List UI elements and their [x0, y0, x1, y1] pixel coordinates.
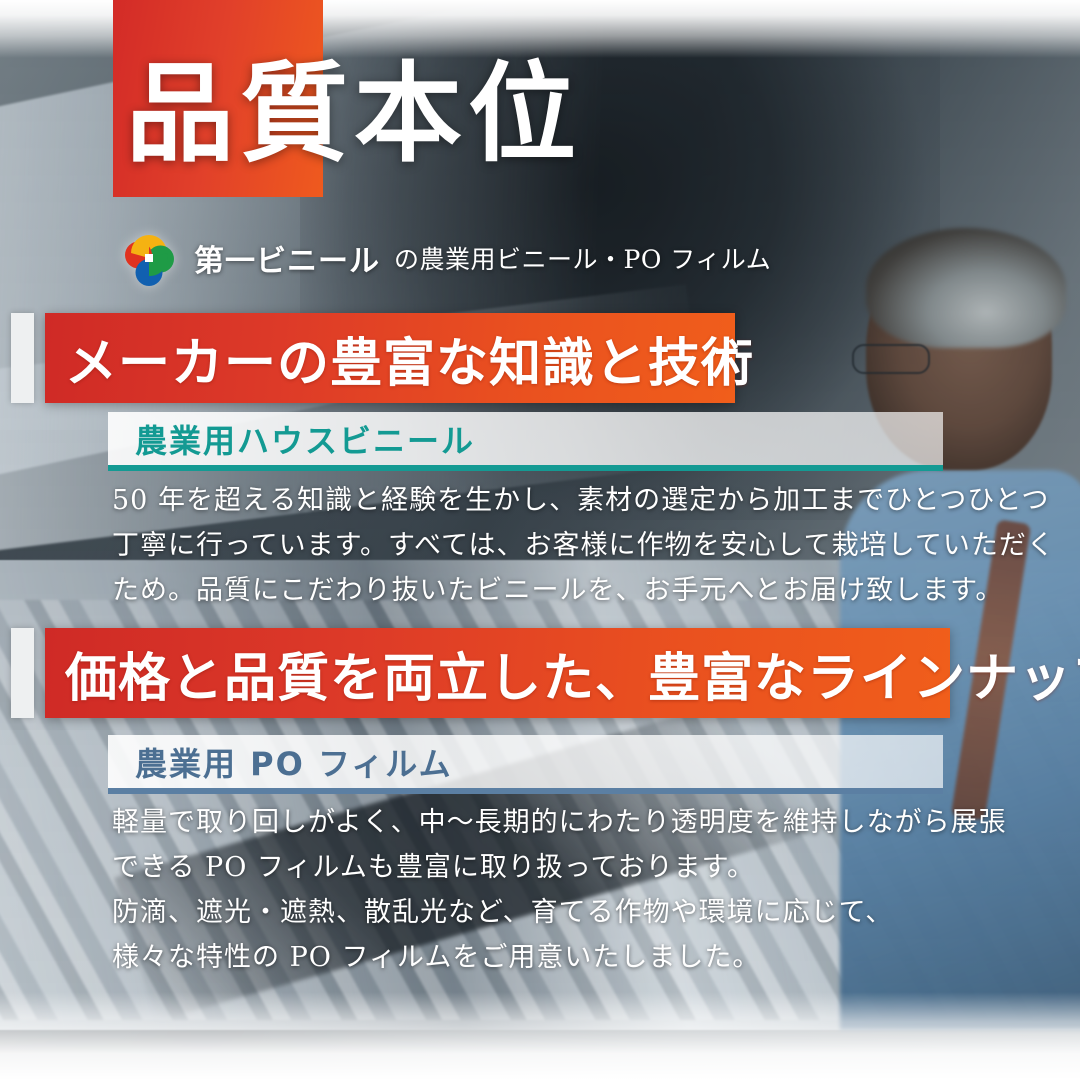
section-1-subheading-band: 農業用ハウスビニール	[108, 412, 943, 471]
section-2-banner-text: 価格と品質を両立した、豊富なラインナップ	[45, 636, 1080, 711]
section-1-paragraph: 50 年を超える知識と経験を生かし、素材の選定から加工までひとつひとつ 丁寧に行…	[112, 478, 1055, 613]
section-2-paragraph: 軽量で取り回しがよく、中〜長期的にわたり透明度を維持しながら展張 できる PO …	[112, 800, 1007, 980]
section-2-banner: 価格と品質を両立した、豊富なラインナップ	[45, 628, 950, 718]
section-1-paragraph-line: ため。品質にこだわり抜いたビニールを、お手元へとお届け致します。	[112, 568, 1055, 613]
section-1-tick-mark	[11, 313, 34, 403]
section-2-paragraph-line: 防滴、遮光・遮熱、散乱光など、育てる作物や環境に応じて、	[112, 890, 1007, 935]
section-2-paragraph-line: できる PO フィルムも豊富に取り扱っております。	[112, 845, 1007, 890]
section-1-banner: メーカーの豊富な知識と技術	[45, 313, 735, 403]
promo-banner-stage: 品質本位 第一ビニール の農業用ビニール・PO フィルム メーカーの豊富な知識と…	[0, 0, 1080, 1080]
brand-line: 第一ビニール の農業用ビニール・PO フィルム	[118, 225, 771, 291]
section-1-banner-text: メーカーの豊富な知識と技術	[45, 321, 754, 396]
photo-bottom-white-fade	[0, 992, 1080, 1080]
section-1-subheading: 農業用ハウスビニール	[108, 415, 475, 468]
page-title: 品質本位	[126, 60, 582, 168]
section-1-paragraph-line: 50 年を超える知識と経験を生かし、素材の選定から加工までひとつひとつ	[112, 478, 1055, 523]
brand-name: 第一ビニール	[194, 236, 380, 280]
section-2-paragraph-line: 様々な特性の PO フィルムをご用意いたしました。	[112, 935, 1007, 980]
section-1-paragraph-line: 丁寧に行っています。すべては、お客様に作物を安心して栽培していただく	[112, 523, 1055, 568]
section-2-tick-mark	[11, 628, 34, 718]
brand-tagline: の農業用ビニール・PO フィルム	[394, 240, 771, 276]
daiichi-vinyl-flower-logo-icon	[118, 227, 180, 289]
section-2-subheading-band: 農業用 PO フィルム	[108, 735, 943, 794]
section-2-paragraph-line: 軽量で取り回しがよく、中〜長期的にわたり透明度を維持しながら展張	[112, 800, 1007, 845]
section-2-subheading: 農業用 PO フィルム	[108, 738, 453, 791]
